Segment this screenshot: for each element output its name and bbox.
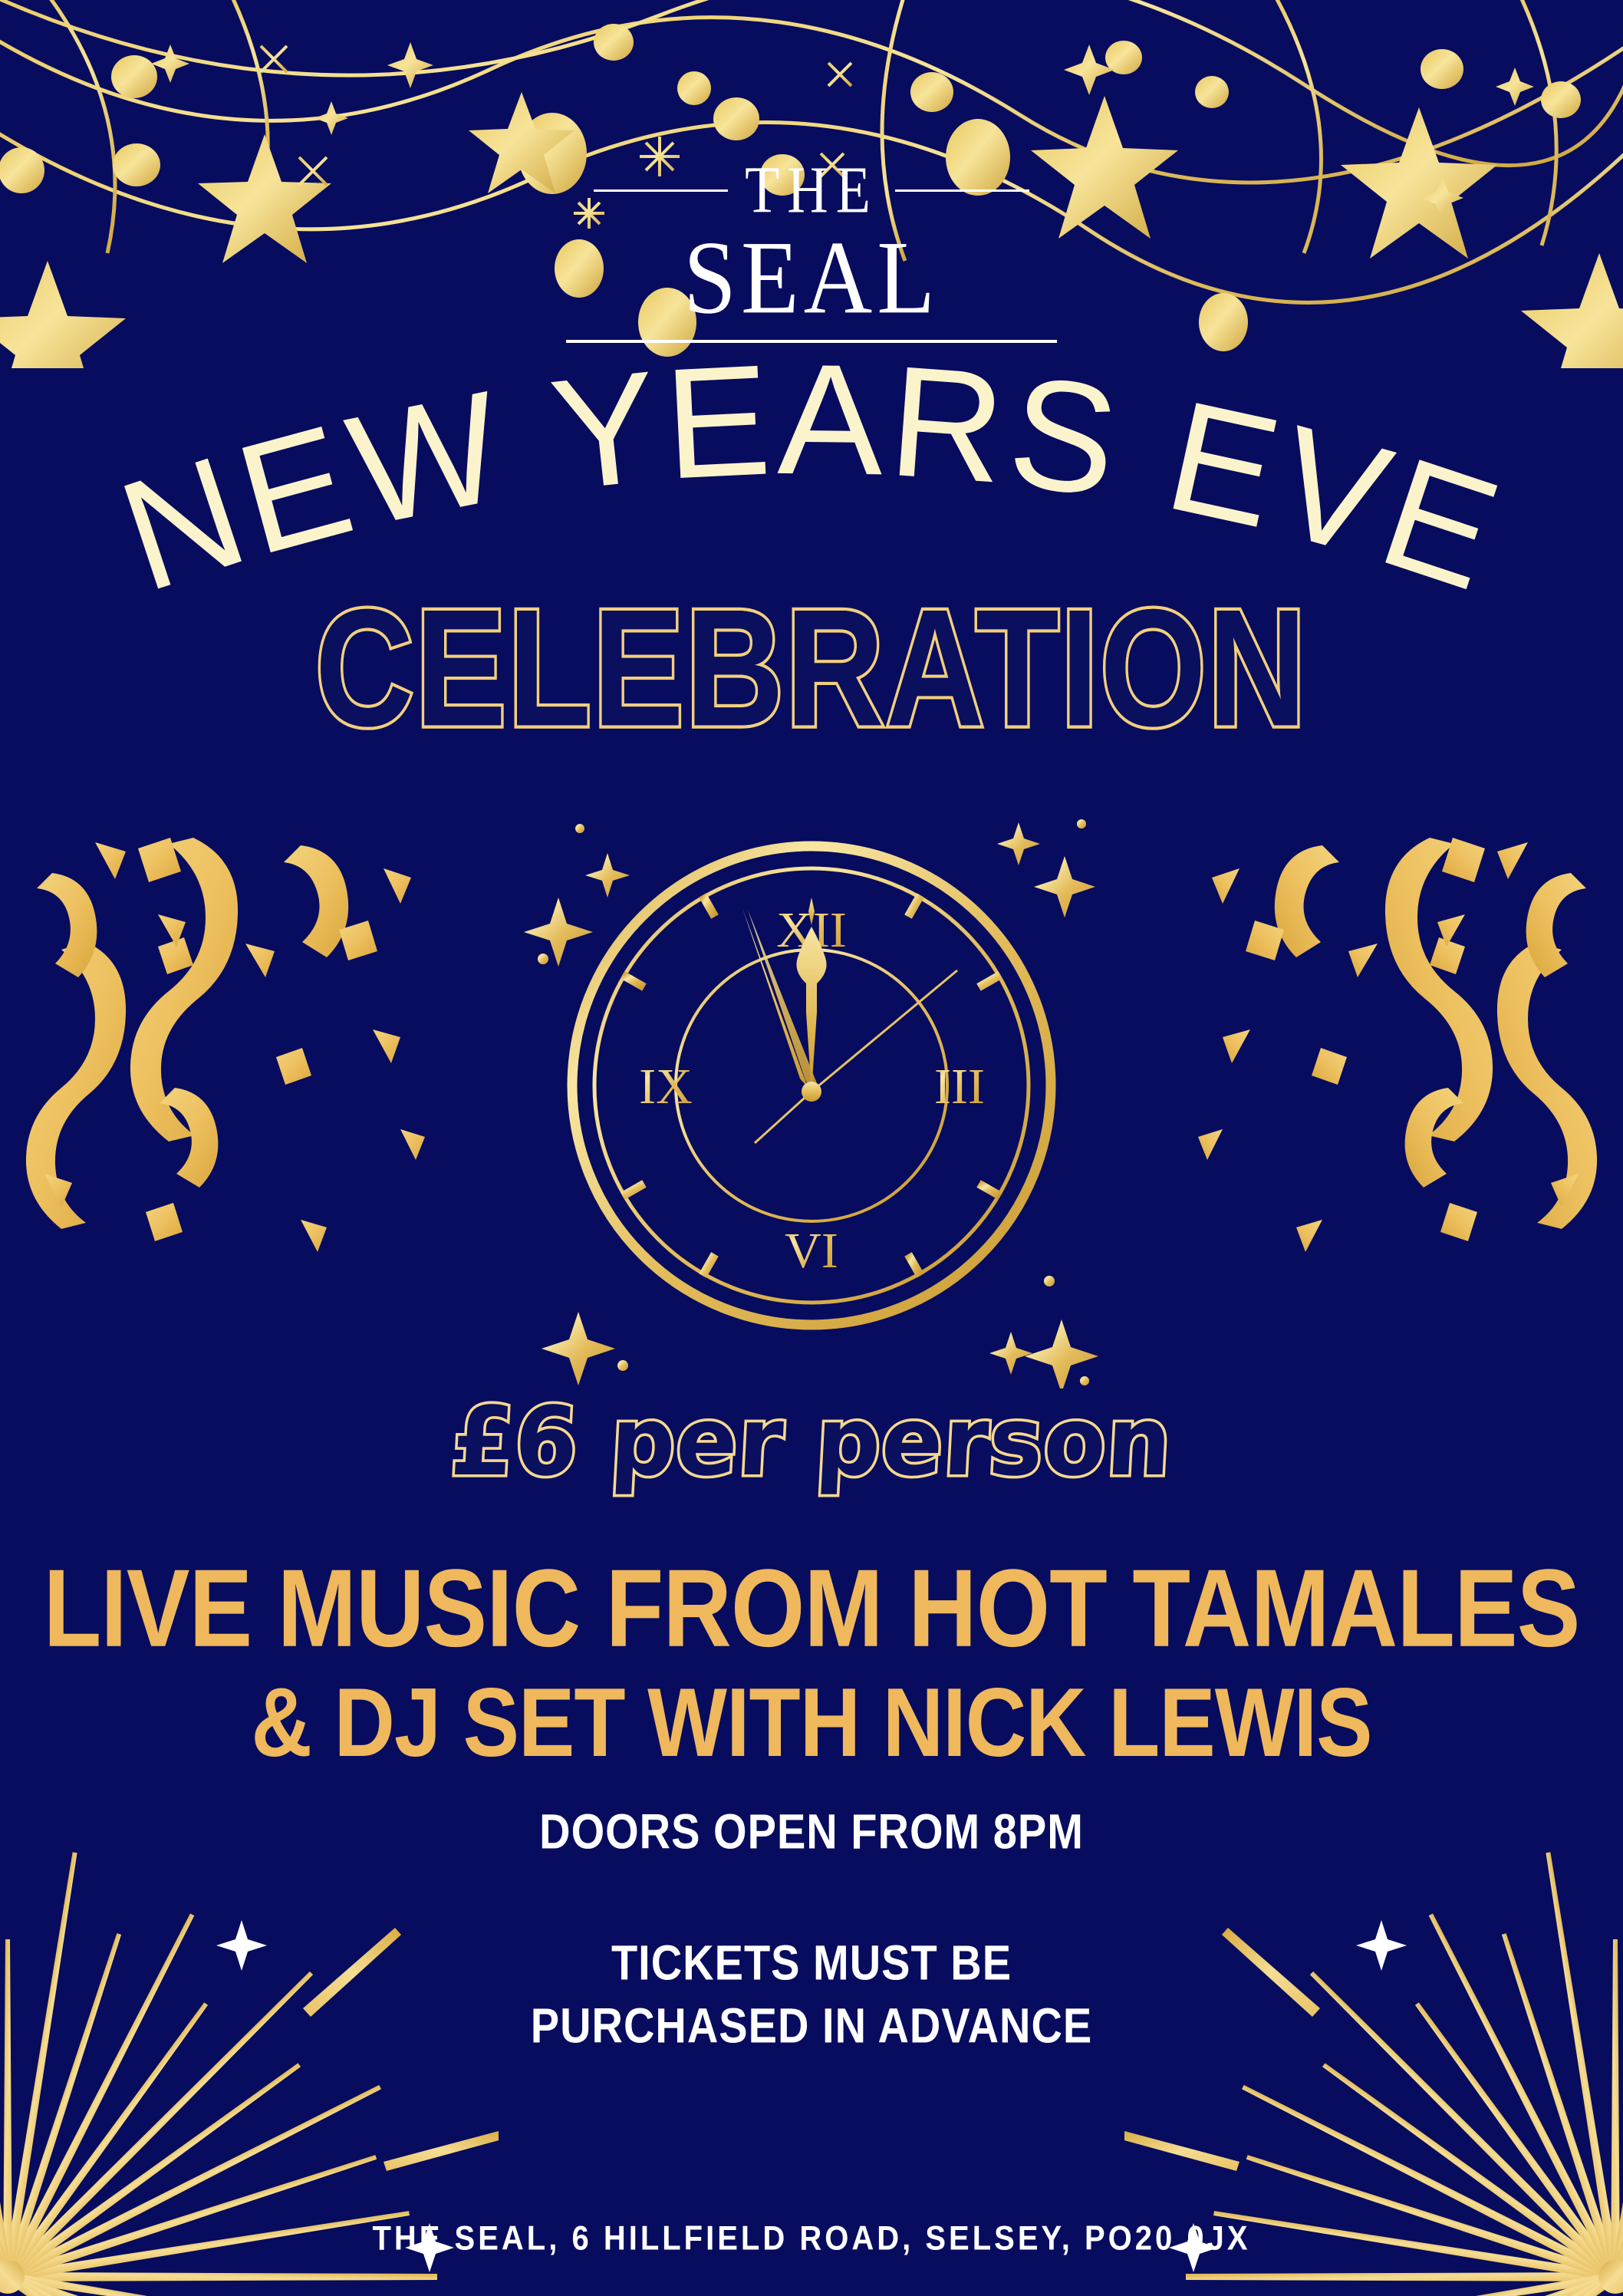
- logo-rule-right: [895, 189, 1029, 192]
- clock-numeral-ix: IX: [639, 1059, 693, 1115]
- headline-line2-text: CELEBRATION: [315, 585, 1308, 751]
- poster-canvas: THE SEAL NEW YEARS EVE CELEBRATION: [0, 0, 1623, 2296]
- price-text: £6 per person: [449, 1394, 1175, 1489]
- lineup-dj-set: & DJ SET WITH NICK LEWIS: [0, 1674, 1623, 1772]
- footer-address-block: THE SEAL, 6 HILLFIELD ROAD, SELSEY, PO20…: [0, 2222, 1623, 2256]
- info-tickets-line1: TICKETS MUST BE: [611, 1935, 1012, 1991]
- confetti-right-decoration: [1132, 828, 1608, 1381]
- headline-celebration: CELEBRATION: [0, 600, 1623, 736]
- price-label: £6 per person: [0, 1396, 1623, 1487]
- logo-the-text: THE: [745, 156, 878, 223]
- clock-numeral-iii: III: [934, 1059, 985, 1115]
- brand-logo: THE SEAL: [566, 157, 1057, 343]
- info-tickets-line2: PURCHASED IN ADVANCE: [531, 1998, 1093, 2053]
- logo-seal-text: SEAL: [566, 218, 1057, 333]
- clock-numeral-vi: VI: [785, 1223, 838, 1279]
- venue-address: THE SEAL, 6 HILLFIELD ROAD, SELSEY, PO20…: [372, 2219, 1250, 2258]
- lineup-live-music: LIVE MUSIC FROM HOT TAMALES: [0, 1553, 1623, 1664]
- logo-the-row: THE: [566, 157, 1057, 223]
- clock-illustration: XII III VI IX: [512, 782, 1111, 1388]
- confetti-left-decoration: [15, 828, 491, 1381]
- lineup-block: LIVE MUSIC FROM HOT TAMALES & DJ SET WIT…: [0, 1561, 1623, 1765]
- logo-rule-left: [594, 189, 728, 192]
